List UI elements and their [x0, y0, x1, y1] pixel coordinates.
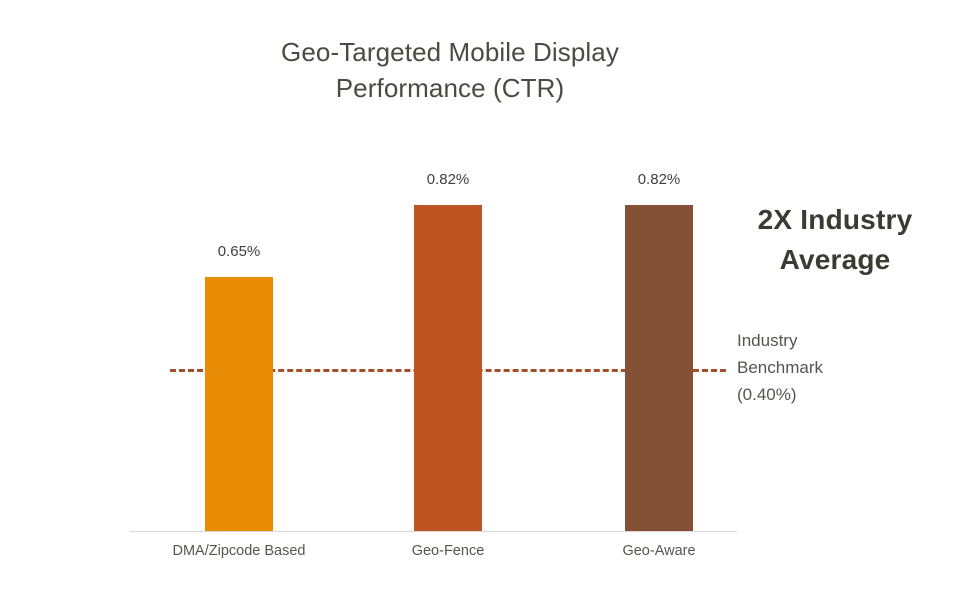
annotation-industry-benchmark: Industry Benchmark (0.40%)	[737, 327, 947, 408]
bar-dma-zipcode-based[interactable]	[205, 277, 273, 531]
bar-geo-aware[interactable]	[625, 205, 693, 531]
bar-value-label-geo-fence: 0.82%	[409, 171, 487, 188]
annotation-2x-industry-average: 2X Industry Average	[726, 200, 944, 280]
plot-area: 0.65% DMA/Zipcode Based 0.82% Geo-Fence …	[0, 0, 973, 607]
bar-value-label-dma-zipcode-based: 0.65%	[200, 243, 278, 260]
category-label-geo-aware: Geo-Aware	[589, 543, 729, 559]
bar-geo-fence[interactable]	[414, 205, 482, 531]
bar-value-label-geo-aware: 0.82%	[620, 171, 698, 188]
chart-canvas: Geo-Targeted Mobile Display Performance …	[0, 0, 973, 607]
category-label-dma-zipcode-based: DMA/Zipcode Based	[150, 543, 328, 559]
x-axis-baseline	[130, 531, 737, 532]
category-label-geo-fence: Geo-Fence	[378, 543, 518, 559]
